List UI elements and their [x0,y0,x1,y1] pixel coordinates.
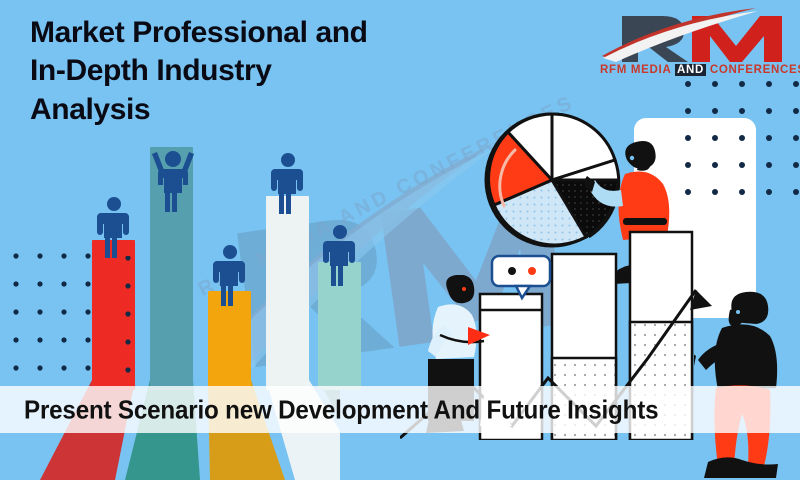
bar-4 [266,196,309,390]
logo-tagline-and: AND [675,64,706,76]
bottom-banner: Present Scenario new Development And Fut… [0,386,800,433]
person-standing-illustration [694,286,798,480]
bar-person-3 [211,244,249,306]
banner-text: Present Scenario new Development And Fut… [24,394,658,425]
logo-tagline: RFM MEDIA AND CONFERENCES LLP [600,64,796,76]
speech-bubble-icon [490,254,552,302]
poster-canvas: RFM MEDIA AND CONFERENCES [0,0,800,480]
bar-person-4 [269,152,307,214]
right-dot-grid [684,80,800,209]
red-bar-dots [92,256,136,380]
bar-person-5 [321,224,359,286]
bar-person-1 [95,196,133,258]
brand-logo[interactable]: RFM MEDIA AND CONFERENCES LLP [600,4,796,80]
logo-tagline-suffix: CONFERENCES LLP [706,64,800,76]
logo-tagline-prefix: RFM MEDIA [600,64,675,76]
page-title: Market Professional and In-Depth Industr… [30,14,460,129]
bar-person-2-arms-raised [152,148,194,212]
